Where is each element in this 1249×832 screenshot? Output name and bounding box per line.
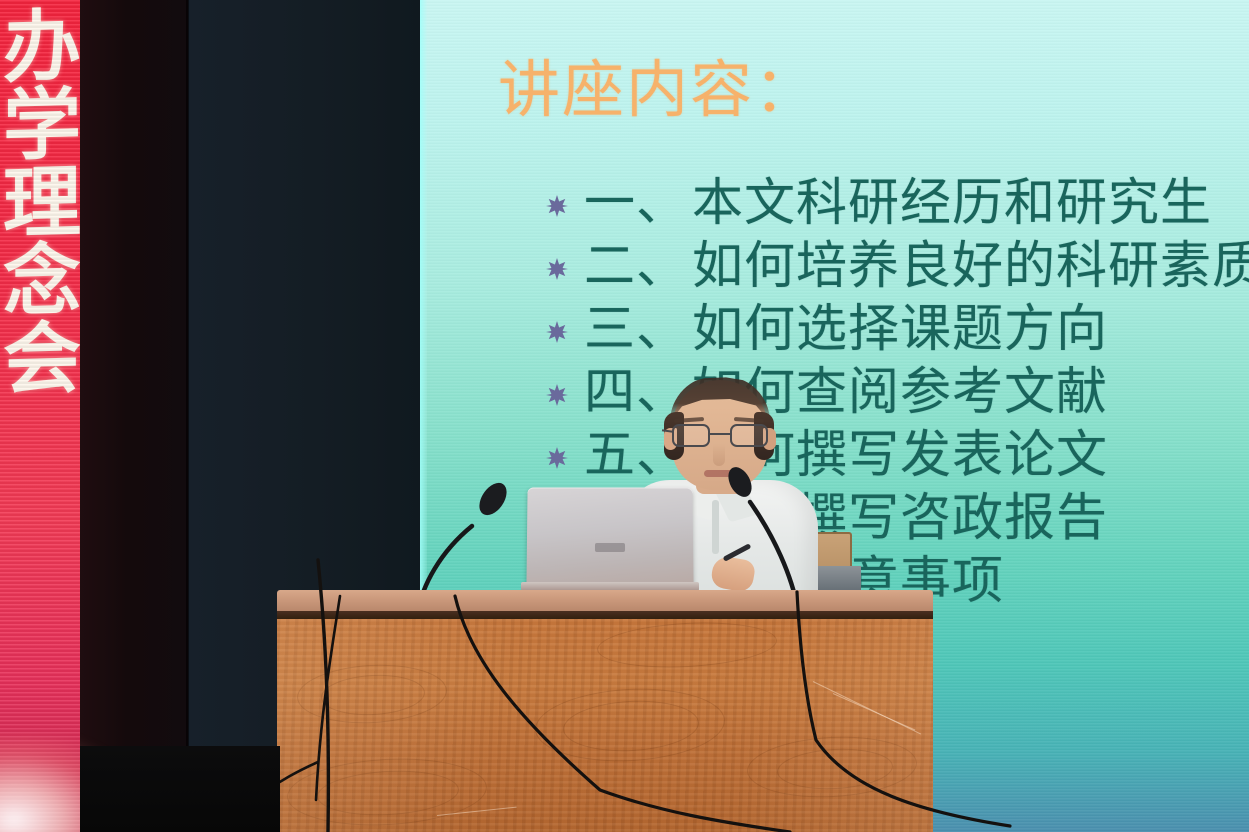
slide-title: 讲座内容： — [498, 56, 818, 126]
lectern-edge-trim — [277, 611, 933, 619]
slide-item-text: 一、本文科研经历和研究生 — [584, 176, 1212, 232]
slide-item-text: 三、如何选择课题方向 — [584, 302, 1108, 358]
lectern-top-surface — [277, 590, 933, 612]
glasses-lens-right — [730, 424, 768, 447]
eight-point-star-icon — [546, 195, 568, 217]
eight-point-star-icon — [546, 321, 568, 343]
wooden-lectern — [277, 590, 933, 832]
slide-item-body: 如何选择课题方向 — [692, 302, 1108, 358]
slide-item-body: 如何培养良好的科研素质 — [692, 239, 1249, 295]
foreground-dark-block — [80, 746, 280, 832]
lecture-hall-photo: 讲座内容： 一、本文科研经历和研究生 二、如何培养良好的科研素质 三、如何选择课… — [0, 0, 1249, 832]
slide-item: 三、如何选择课题方向 — [546, 298, 1249, 361]
glasses-lens-left — [672, 424, 710, 447]
stage-wall-left — [78, 0, 188, 832]
eight-point-star-icon — [546, 258, 568, 280]
slide-item-number: 一、 — [584, 176, 688, 232]
slide-item: 一、本文科研经历和研究生 — [546, 172, 1249, 235]
slide-item-number: 三、 — [584, 302, 688, 358]
eight-point-star-icon — [546, 384, 568, 406]
laptop-logo — [595, 543, 625, 552]
banner-text: 办学理念会 — [0, 4, 74, 397]
slide-item: 二、如何培养良好的科研素质 — [546, 235, 1249, 298]
glasses-bridge — [710, 433, 730, 435]
laptop-lid — [526, 487, 693, 587]
lectern-highlight — [277, 619, 933, 832]
red-led-banner: 办学理念会 — [0, 0, 80, 832]
open-laptop — [527, 487, 693, 587]
eight-point-star-icon — [546, 447, 568, 469]
slide-item-number: 二、 — [584, 239, 688, 295]
slide-item-text: 二、如何培养良好的科研素质 — [584, 239, 1249, 295]
wall-seam — [186, 0, 189, 832]
slide-item-body: 本文科研经历和研究生 — [692, 176, 1212, 232]
